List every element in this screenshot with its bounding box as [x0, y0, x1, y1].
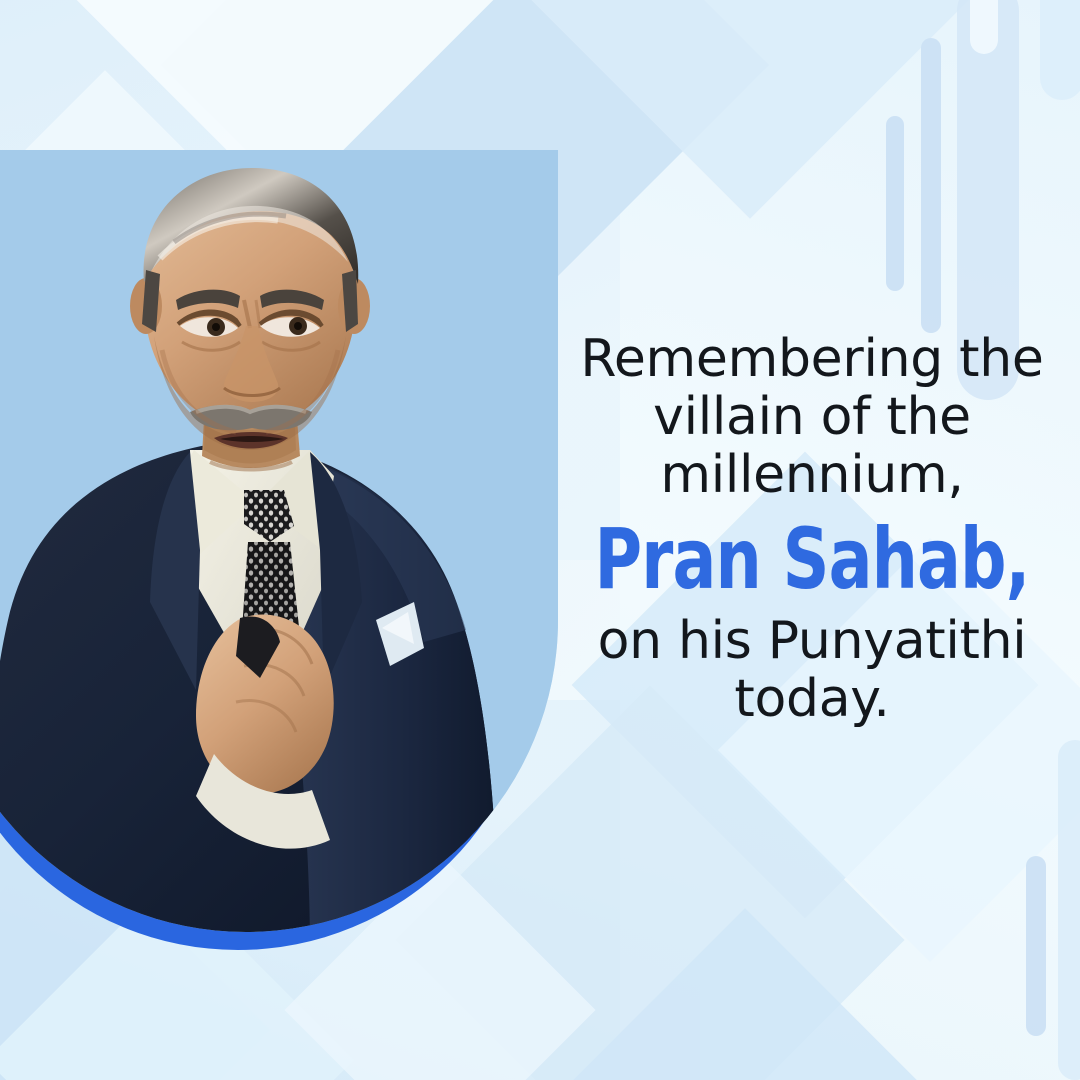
- message-line-2: villain of the: [556, 388, 1068, 446]
- bar-right-2: [921, 38, 941, 333]
- message-line-4: on his Punyatithi: [556, 612, 1068, 670]
- message-line-1: Remembering the: [556, 330, 1068, 388]
- message-block: Remembering the villain of the millenniu…: [556, 330, 1068, 729]
- message-line-5: today.: [556, 670, 1068, 728]
- portrait-photo: [0, 150, 558, 950]
- portrait-figure: [0, 150, 558, 950]
- bar-right-4: [970, 0, 998, 54]
- bar-bottom-right-2: [1058, 740, 1080, 1080]
- tribute-poster: Remembering the villain of the millenniu…: [0, 0, 1080, 1080]
- bar-bottom-right-1: [1026, 856, 1046, 1036]
- bar-right-1: [886, 116, 904, 291]
- message-line-3: millennium,: [556, 446, 1068, 504]
- bar-right-5: [1040, 0, 1080, 100]
- honoree-name: Pran Sahab,: [592, 511, 1032, 608]
